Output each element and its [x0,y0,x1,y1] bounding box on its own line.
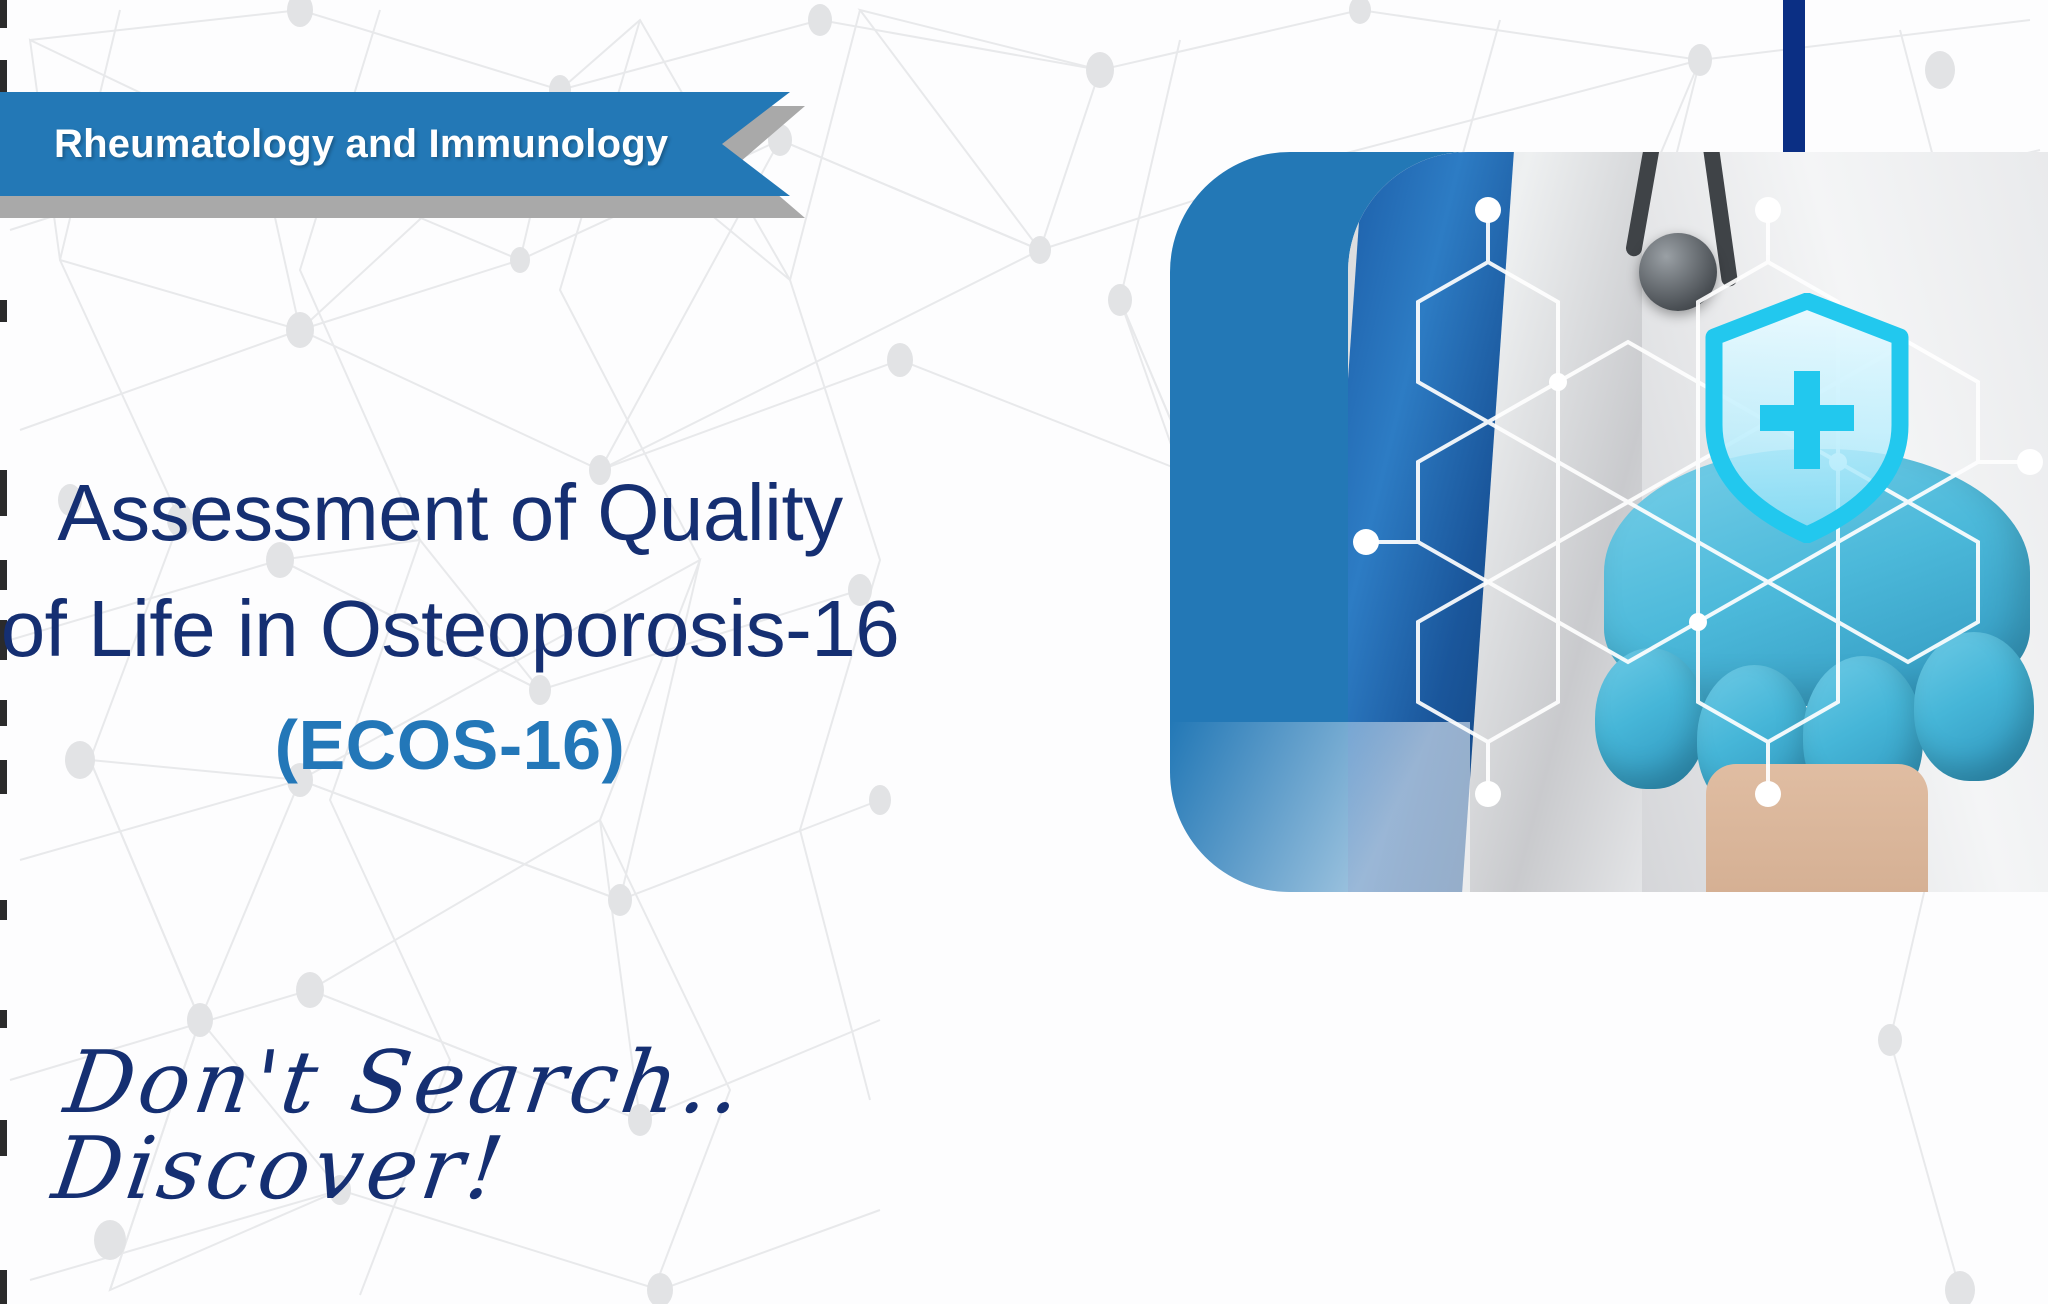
slide-canvas: Rheumatology and Immunology Assessment o… [0,0,2048,1304]
photo-frame [1170,152,2048,892]
edge-artifact [0,900,7,920]
photo-panel [1170,152,2048,892]
accent-bar [1783,0,1805,166]
tagline-script: Don't Search.. Discover! [48,1040,892,1212]
title-line-1: Assessment of Quality [0,455,900,571]
medical-shield-icon [1702,293,1912,543]
edge-artifact [0,60,7,94]
edge-artifact [0,0,7,28]
category-ribbon: Rheumatology and Immunology [0,92,815,204]
edge-artifact [0,1120,7,1156]
edge-artifact [0,300,7,322]
edge-artifact [0,1010,7,1028]
hexagon-network-overlay [1348,152,2048,892]
ribbon-label: Rheumatology and Immunology [0,122,668,167]
title-block: Assessment of Quality of Life in Osteopo… [0,455,900,798]
subtitle-acronym: (ECOS-16) [0,693,900,798]
edge-artifact [0,1270,7,1304]
title-line-2: of Life in Osteoporosis-16 [0,571,900,687]
ribbon-banner: Rheumatology and Immunology [0,92,790,196]
doctor-photo [1348,152,2048,892]
